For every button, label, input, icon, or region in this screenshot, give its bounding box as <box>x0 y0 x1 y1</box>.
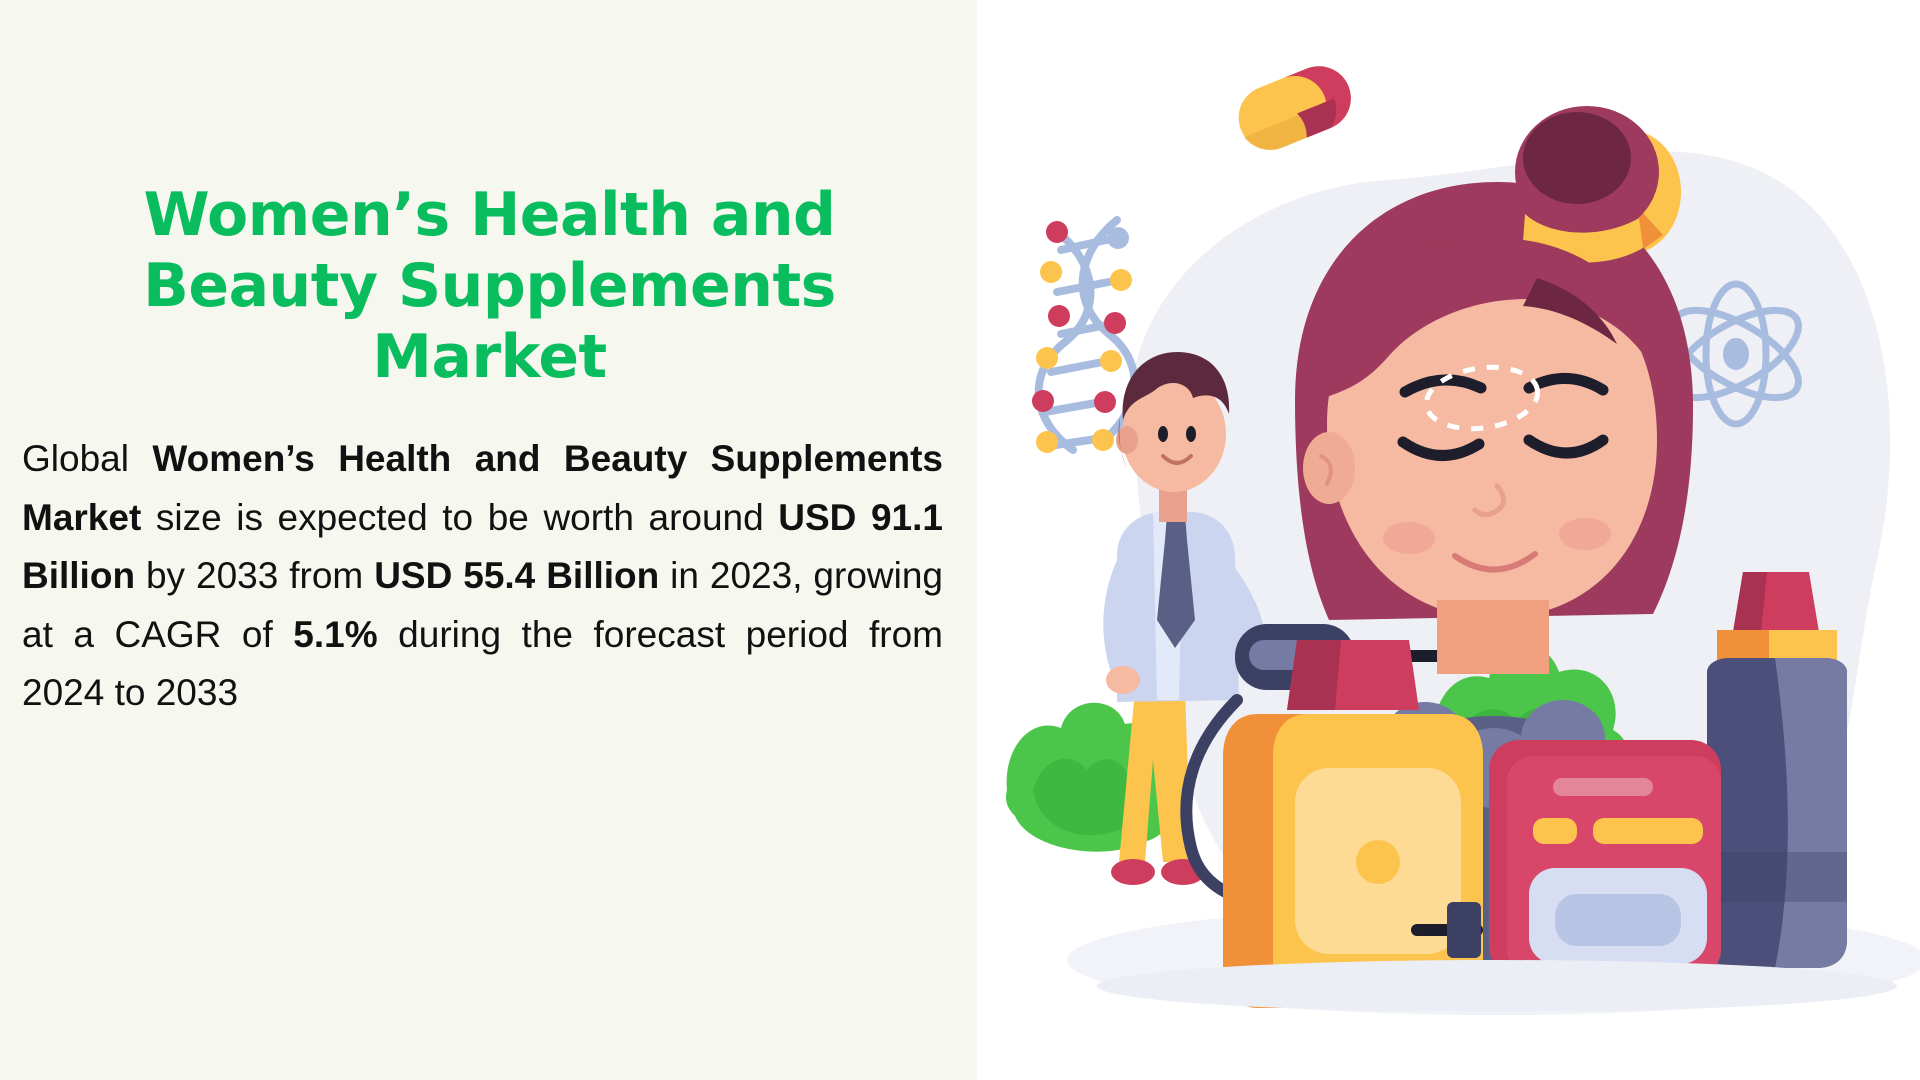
infographic-page: Women’s Health and Beauty Supplements Ma… <box>0 0 1920 1080</box>
illustration-panel <box>977 0 1920 1080</box>
dark-bottle-icon <box>1707 572 1847 968</box>
page-title: Women’s Health and Beauty Supplements Ma… <box>22 180 957 392</box>
illustration-svg <box>977 0 1920 1080</box>
body-text: Global <box>22 438 152 479</box>
body-text: by 2033 from <box>135 555 374 596</box>
emphasis-text: USD 55.4 Billion <box>374 555 659 596</box>
illustration <box>977 0 1920 1080</box>
page-title-line-1: Women’s Health and <box>144 180 836 250</box>
dna-helix-icon <box>1032 220 1134 453</box>
ground-shadow <box>1097 960 1897 1012</box>
page-title-line-2: Beauty Supplements <box>143 251 836 321</box>
text-panel: Women’s Health and Beauty Supplements Ma… <box>0 0 977 1080</box>
text-block: Women’s Health and Beauty Supplements Ma… <box>22 180 957 723</box>
market-summary-paragraph: Global Women’s Health and Beauty Supplem… <box>22 430 957 722</box>
page-title-line-3: Market <box>372 322 606 392</box>
emphasis-text: 5.1% <box>293 614 377 655</box>
capsule-pill-top-icon <box>1229 57 1361 160</box>
body-text: size is expected to be worth around <box>141 497 778 538</box>
